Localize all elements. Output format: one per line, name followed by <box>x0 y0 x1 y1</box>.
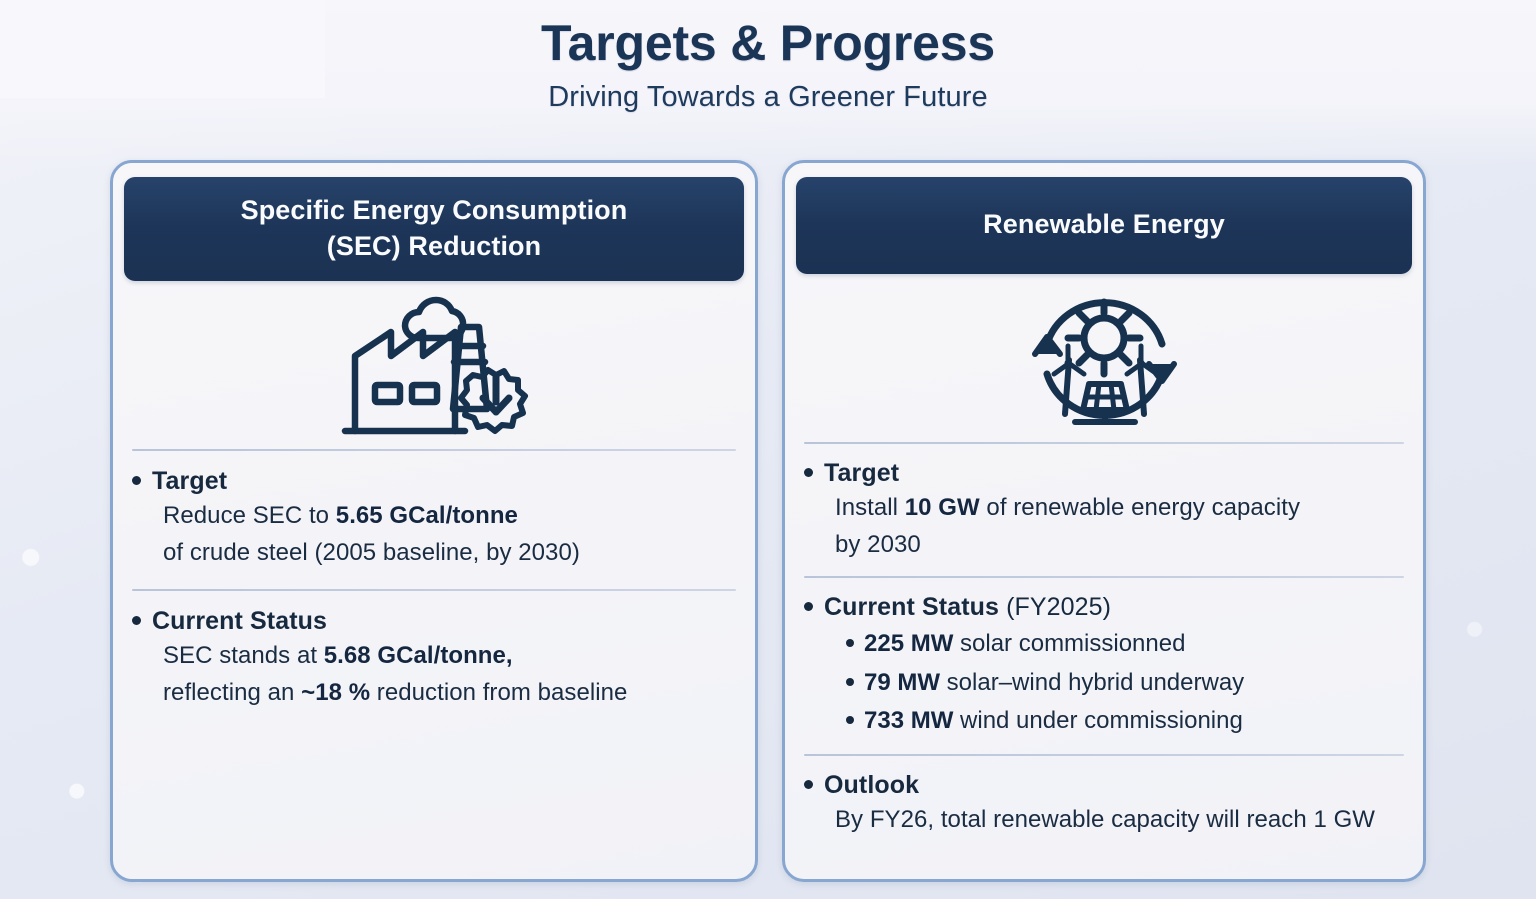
sec-status-label: Current Status <box>152 607 327 636</box>
renew-status-sub-list: 225 MW solar commissionned 79 MW solar–w… <box>804 625 1404 741</box>
renew-status-label: Current Status (FY2025) <box>824 593 1111 622</box>
bullet-dot-icon <box>804 780 813 789</box>
renew-status-item-1-text: solar–wind hybrid underway <box>940 669 1244 696</box>
renew-status-label-year: (FY2025) <box>999 593 1111 621</box>
card-sec-header: Specific Energy Consumption (SEC) Reduct… <box>124 177 744 281</box>
section-sec-target: Target Reduce SEC to 5.65 GCal/tonne of … <box>132 467 736 571</box>
card-sec-header-line1: Specific Energy Consumption <box>134 193 734 229</box>
sec-status-line1-pre: SEC stands at <box>163 642 324 669</box>
list-item: 225 MW solar commissionned <box>846 625 1404 664</box>
card-renewable-body: Target Install 10 GW of renewable energy… <box>785 442 1423 838</box>
card-sec-reduction: Specific Energy Consumption (SEC) Reduct… <box>110 160 758 882</box>
renew-status-item-0-value: 225 MW <box>864 630 953 657</box>
sec-target-detail: Reduce SEC to 5.65 GCal/tonne of crude s… <box>132 497 736 571</box>
renew-status-item-0-text: solar commissionned <box>953 630 1185 657</box>
page-title: Targets & Progress <box>0 14 1536 73</box>
section-renew-current-status: Current Status (FY2025) 225 MW solar com… <box>804 593 1404 741</box>
sec-target-label: Target <box>152 467 227 496</box>
card-sec-body: Target Reduce SEC to 5.65 GCal/tonne of … <box>113 449 755 711</box>
sec-status-line2-post: reduction from baseline <box>370 679 627 706</box>
factory-emissions-reduction-icon <box>113 281 755 449</box>
renew-target-label: Target <box>824 459 899 488</box>
renew-status-item-1-value: 79 MW <box>864 669 940 696</box>
renew-target-detail: Install 10 GW of renewable energy capaci… <box>804 489 1404 563</box>
card-sec-header-line2: (SEC) Reduction <box>134 229 734 265</box>
sec-target-line1-value: 5.65 GCal/tonne <box>336 502 518 529</box>
renew-status-item-1: 79 MW solar–wind hybrid underway <box>864 664 1244 703</box>
bullet-dot-icon <box>846 678 854 686</box>
bullet-dot-icon <box>132 616 141 625</box>
renew-outlook-label: Outlook <box>824 771 919 800</box>
divider <box>132 589 736 591</box>
card-renewable-energy: Renewable Energy <box>782 160 1426 882</box>
renew-target-line2: by 2030 <box>835 531 921 558</box>
renew-status-item-2-text: wind under commissioning <box>953 707 1242 734</box>
sec-status-line2-pre: reflecting an <box>163 679 301 706</box>
divider <box>804 754 1404 756</box>
sec-target-line2: of crude steel (2005 baseline, by 2030) <box>163 539 580 566</box>
page-subtitle: Driving Towards a Greener Future <box>0 81 1536 114</box>
divider <box>804 576 1404 578</box>
sec-target-line1-pre: Reduce SEC to <box>163 502 336 529</box>
page-header: Targets & Progress Driving Towards a Gre… <box>0 14 1536 114</box>
bullet-dot-icon <box>846 639 854 647</box>
sec-status-detail: SEC stands at 5.68 GCal/tonne, reflectin… <box>132 637 736 711</box>
renewable-energy-cycle-icon <box>785 274 1423 442</box>
bullet-renew-target: Target <box>804 459 1404 488</box>
renew-target-line1-post: of renewable energy capacity <box>980 494 1300 521</box>
renew-status-item-0: 225 MW solar commissionned <box>864 625 1185 664</box>
renew-target-line1-pre: Install <box>835 494 905 521</box>
bullet-dot-icon <box>132 476 141 485</box>
bullet-dot-icon <box>804 468 813 477</box>
renew-status-item-2: 733 MW wind under commissioning <box>864 702 1243 741</box>
bullet-sec-current-status: Current Status <box>132 607 736 636</box>
renew-outlook-detail: By FY26, total renewable capacity will r… <box>804 801 1404 838</box>
renew-status-label-main: Current Status <box>824 593 999 621</box>
renew-target-line1-value: 10 GW <box>905 494 980 521</box>
sec-status-line1-value: 5.68 GCal/tonne, <box>324 642 513 669</box>
list-item: 79 MW solar–wind hybrid underway <box>846 664 1404 703</box>
list-item: 733 MW wind under commissioning <box>846 702 1404 741</box>
section-renew-outlook: Outlook By FY26, total renewable capacit… <box>804 771 1404 838</box>
bullet-dot-icon <box>804 602 813 611</box>
divider <box>804 442 1404 444</box>
divider <box>132 449 736 451</box>
section-sec-current-status: Current Status SEC stands at 5.68 GCal/t… <box>132 607 736 711</box>
bullet-dot-icon <box>846 716 854 724</box>
card-renewable-header: Renewable Energy <box>796 177 1412 274</box>
bullet-renew-outlook: Outlook <box>804 771 1404 800</box>
section-renew-target: Target Install 10 GW of renewable energy… <box>804 459 1404 563</box>
bullet-renew-current-status: Current Status (FY2025) <box>804 593 1404 622</box>
bullet-sec-target: Target <box>132 467 736 496</box>
renew-status-item-2-value: 733 MW <box>864 707 953 734</box>
sec-status-line2-value: ~18 % <box>301 679 370 706</box>
